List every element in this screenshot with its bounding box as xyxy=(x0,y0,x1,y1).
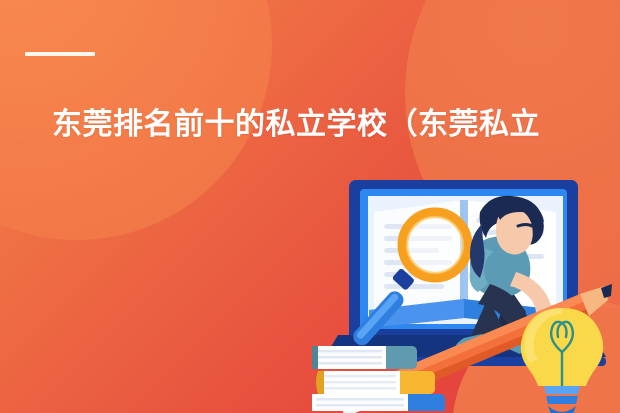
banner-title: 东莞排名前十的私立学校（东莞私立 xyxy=(52,103,612,147)
lightbulb-icon xyxy=(521,308,603,413)
promo-banner: 东莞排名前十的私立学校（东莞私立 xyxy=(0,0,620,413)
title-divider-rule xyxy=(25,52,95,56)
online-learning-illustration xyxy=(312,178,620,413)
